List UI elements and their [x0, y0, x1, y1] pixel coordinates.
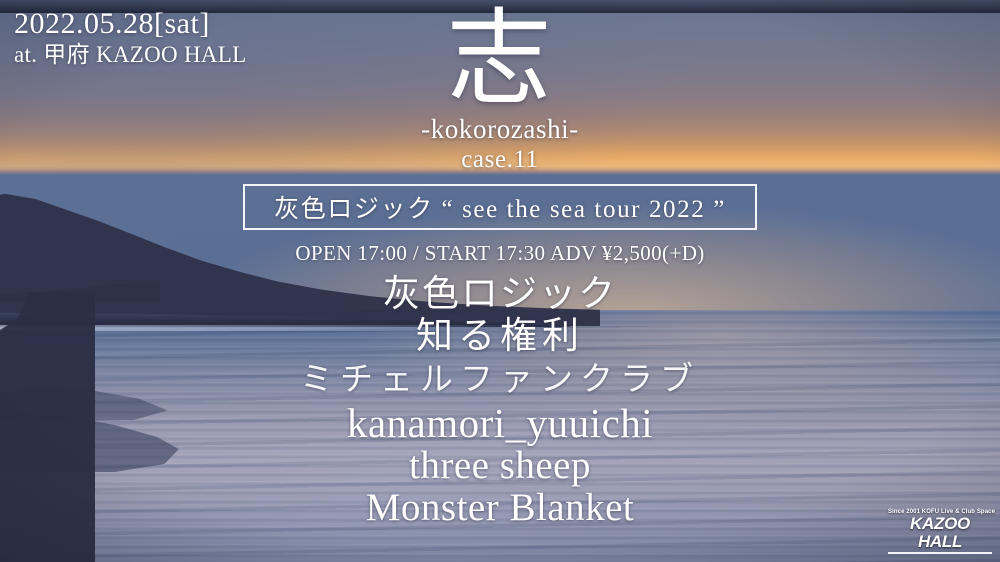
tour-title-box: 灰色ロジック “ see the sea tour 2022 ” — [243, 184, 757, 230]
lineup-item: kanamori_yuuichi — [0, 402, 1000, 445]
lineup-item: 知る権利 — [0, 318, 1000, 356]
venue-logo: Since 2001 KOFU Live & Club Space KAZOO … — [888, 509, 992, 554]
event-info-line: OPEN 17:00 / START 17:30 ADV ¥2,500(+D) — [0, 241, 1000, 266]
event-case-number: case.11 — [0, 146, 1000, 174]
lineup-item: three sheep — [0, 446, 1000, 487]
title-block: 志 -kokorozashi- case.11 — [0, 10, 1000, 174]
event-title-romaji: -kokorozashi- — [0, 114, 1000, 145]
concert-flyer: 2022.05.28[sat] at. 甲府 KAZOO HALL 志 -kok… — [0, 0, 1000, 562]
lineup-item: Monster Blanket — [0, 488, 1000, 529]
venue-logo-name: KAZOO HALL — [888, 515, 992, 551]
lineup-item: ミチェルファンクラブ — [0, 363, 1000, 397]
lineup-item: 灰色ロジック — [0, 276, 1000, 314]
event-title-kanji: 志 — [0, 10, 1000, 110]
venue-logo-rule — [888, 552, 992, 554]
tour-title-text: 灰色ロジック “ see the sea tour 2022 ” — [274, 189, 726, 225]
artist-lineup: 灰色ロジック 知る権利 ミチェルファンクラブ kanamori_yuuichi … — [0, 276, 1000, 529]
